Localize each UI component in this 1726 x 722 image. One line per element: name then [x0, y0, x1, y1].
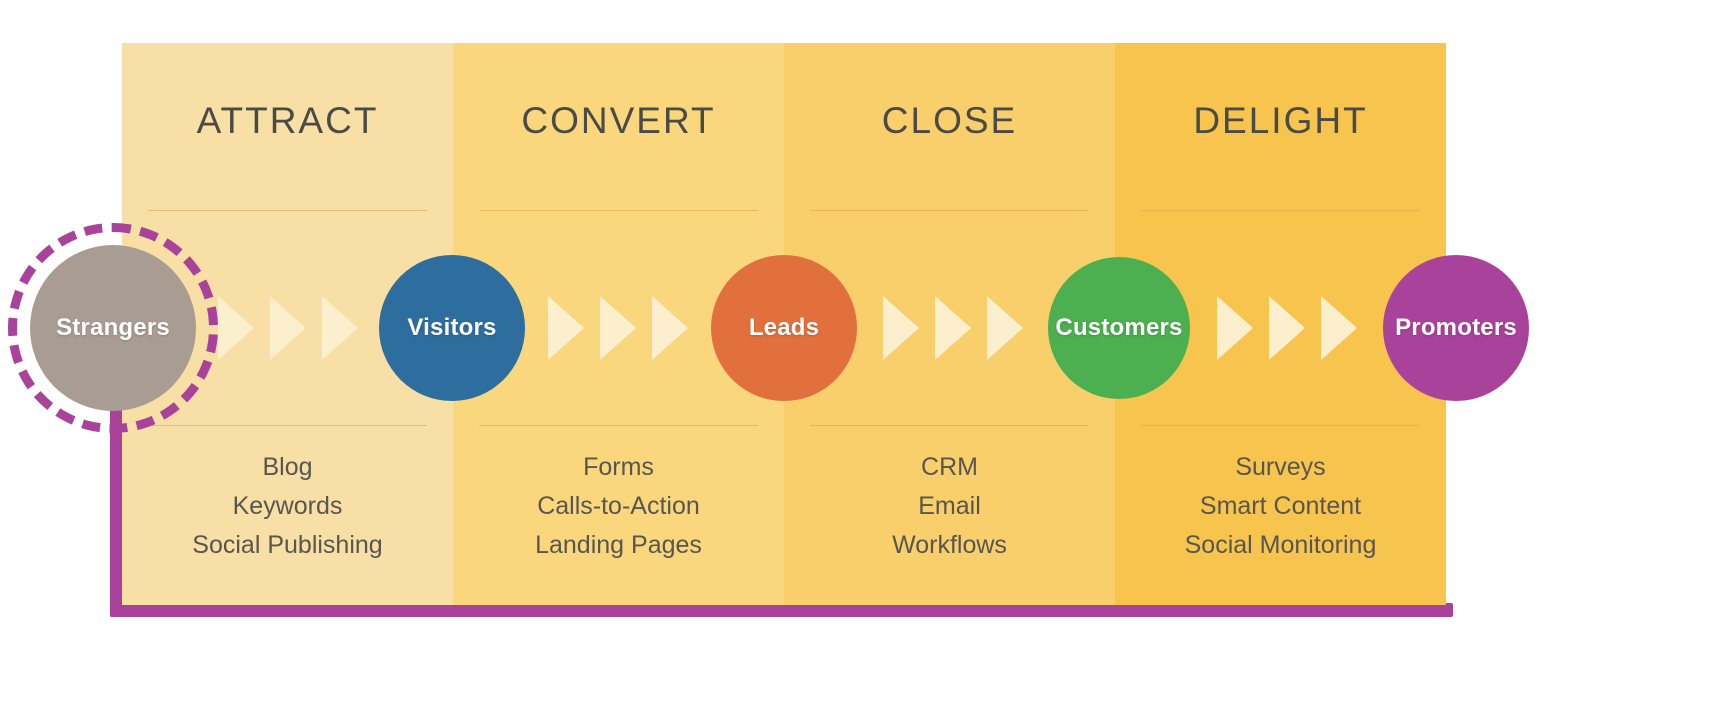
- chevron-right-icon: [1269, 296, 1305, 360]
- arrow-group: [883, 296, 1023, 360]
- inbound-methodology-diagram: ATTRACT Blog Keywords Social Publishing …: [0, 0, 1726, 722]
- chevron-right-icon: [1217, 296, 1253, 360]
- tool-item: Social Publishing: [122, 526, 453, 565]
- tool-list-close: CRM Email Workflows: [784, 448, 1115, 564]
- divider-top-close: [810, 210, 1088, 211]
- divider-top-convert: [479, 210, 757, 211]
- tool-item: Keywords: [122, 487, 453, 526]
- purple-frame-bottom-bar: [110, 603, 1453, 617]
- stage-circle-customers[interactable]: Customers: [1048, 257, 1190, 399]
- divider-bottom-attract: [148, 425, 426, 426]
- stage-label: Strangers: [56, 314, 170, 342]
- divider-bottom-convert: [479, 425, 757, 426]
- tool-item: Forms: [453, 448, 784, 487]
- chevron-right-icon: [322, 296, 358, 360]
- arrow-group: [218, 296, 358, 360]
- tool-list-delight: Surveys Smart Content Social Monitoring: [1115, 448, 1446, 564]
- tool-item: Workflows: [784, 526, 1115, 565]
- tool-item: Surveys: [1115, 448, 1446, 487]
- tool-item: CRM: [784, 448, 1115, 487]
- chevron-right-icon: [935, 296, 971, 360]
- column-header-attract: ATTRACT: [122, 100, 453, 142]
- stage-label: Customers: [1055, 314, 1182, 342]
- divider-top-attract: [148, 210, 426, 211]
- tool-item: Blog: [122, 448, 453, 487]
- stage-circle-leads[interactable]: Leads: [711, 255, 857, 401]
- arrow-group: [1217, 296, 1357, 360]
- divider-top-delight: [1141, 210, 1419, 211]
- chevron-right-icon: [270, 296, 306, 360]
- divider-bottom-close: [810, 425, 1088, 426]
- tool-item: Smart Content: [1115, 487, 1446, 526]
- chevron-right-icon: [1321, 296, 1357, 360]
- chevron-right-icon: [987, 296, 1023, 360]
- stage-circle-strangers[interactable]: Strangers: [30, 245, 196, 411]
- column-header-convert: CONVERT: [453, 100, 784, 142]
- tool-item: Email: [784, 487, 1115, 526]
- tool-list-convert: Forms Calls-to-Action Landing Pages: [453, 448, 784, 564]
- chevron-right-icon: [652, 296, 688, 360]
- divider-bottom-delight: [1141, 425, 1419, 426]
- column-header-delight: DELIGHT: [1115, 100, 1446, 142]
- stage-label: Promoters: [1395, 314, 1517, 342]
- chevron-right-icon: [218, 296, 254, 360]
- stage-label: Visitors: [407, 314, 496, 342]
- stage-circle-promoters[interactable]: Promoters: [1383, 255, 1529, 401]
- chevron-right-icon: [548, 296, 584, 360]
- chevron-right-icon: [883, 296, 919, 360]
- arrow-group: [548, 296, 688, 360]
- stage-circle-visitors[interactable]: Visitors: [379, 255, 525, 401]
- chevron-right-icon: [600, 296, 636, 360]
- tool-item: Landing Pages: [453, 526, 784, 565]
- stage-label: Leads: [749, 314, 819, 342]
- tool-list-attract: Blog Keywords Social Publishing: [122, 448, 453, 564]
- column-header-close: CLOSE: [784, 100, 1115, 142]
- tool-item: Calls-to-Action: [453, 487, 784, 526]
- tool-item: Social Monitoring: [1115, 526, 1446, 565]
